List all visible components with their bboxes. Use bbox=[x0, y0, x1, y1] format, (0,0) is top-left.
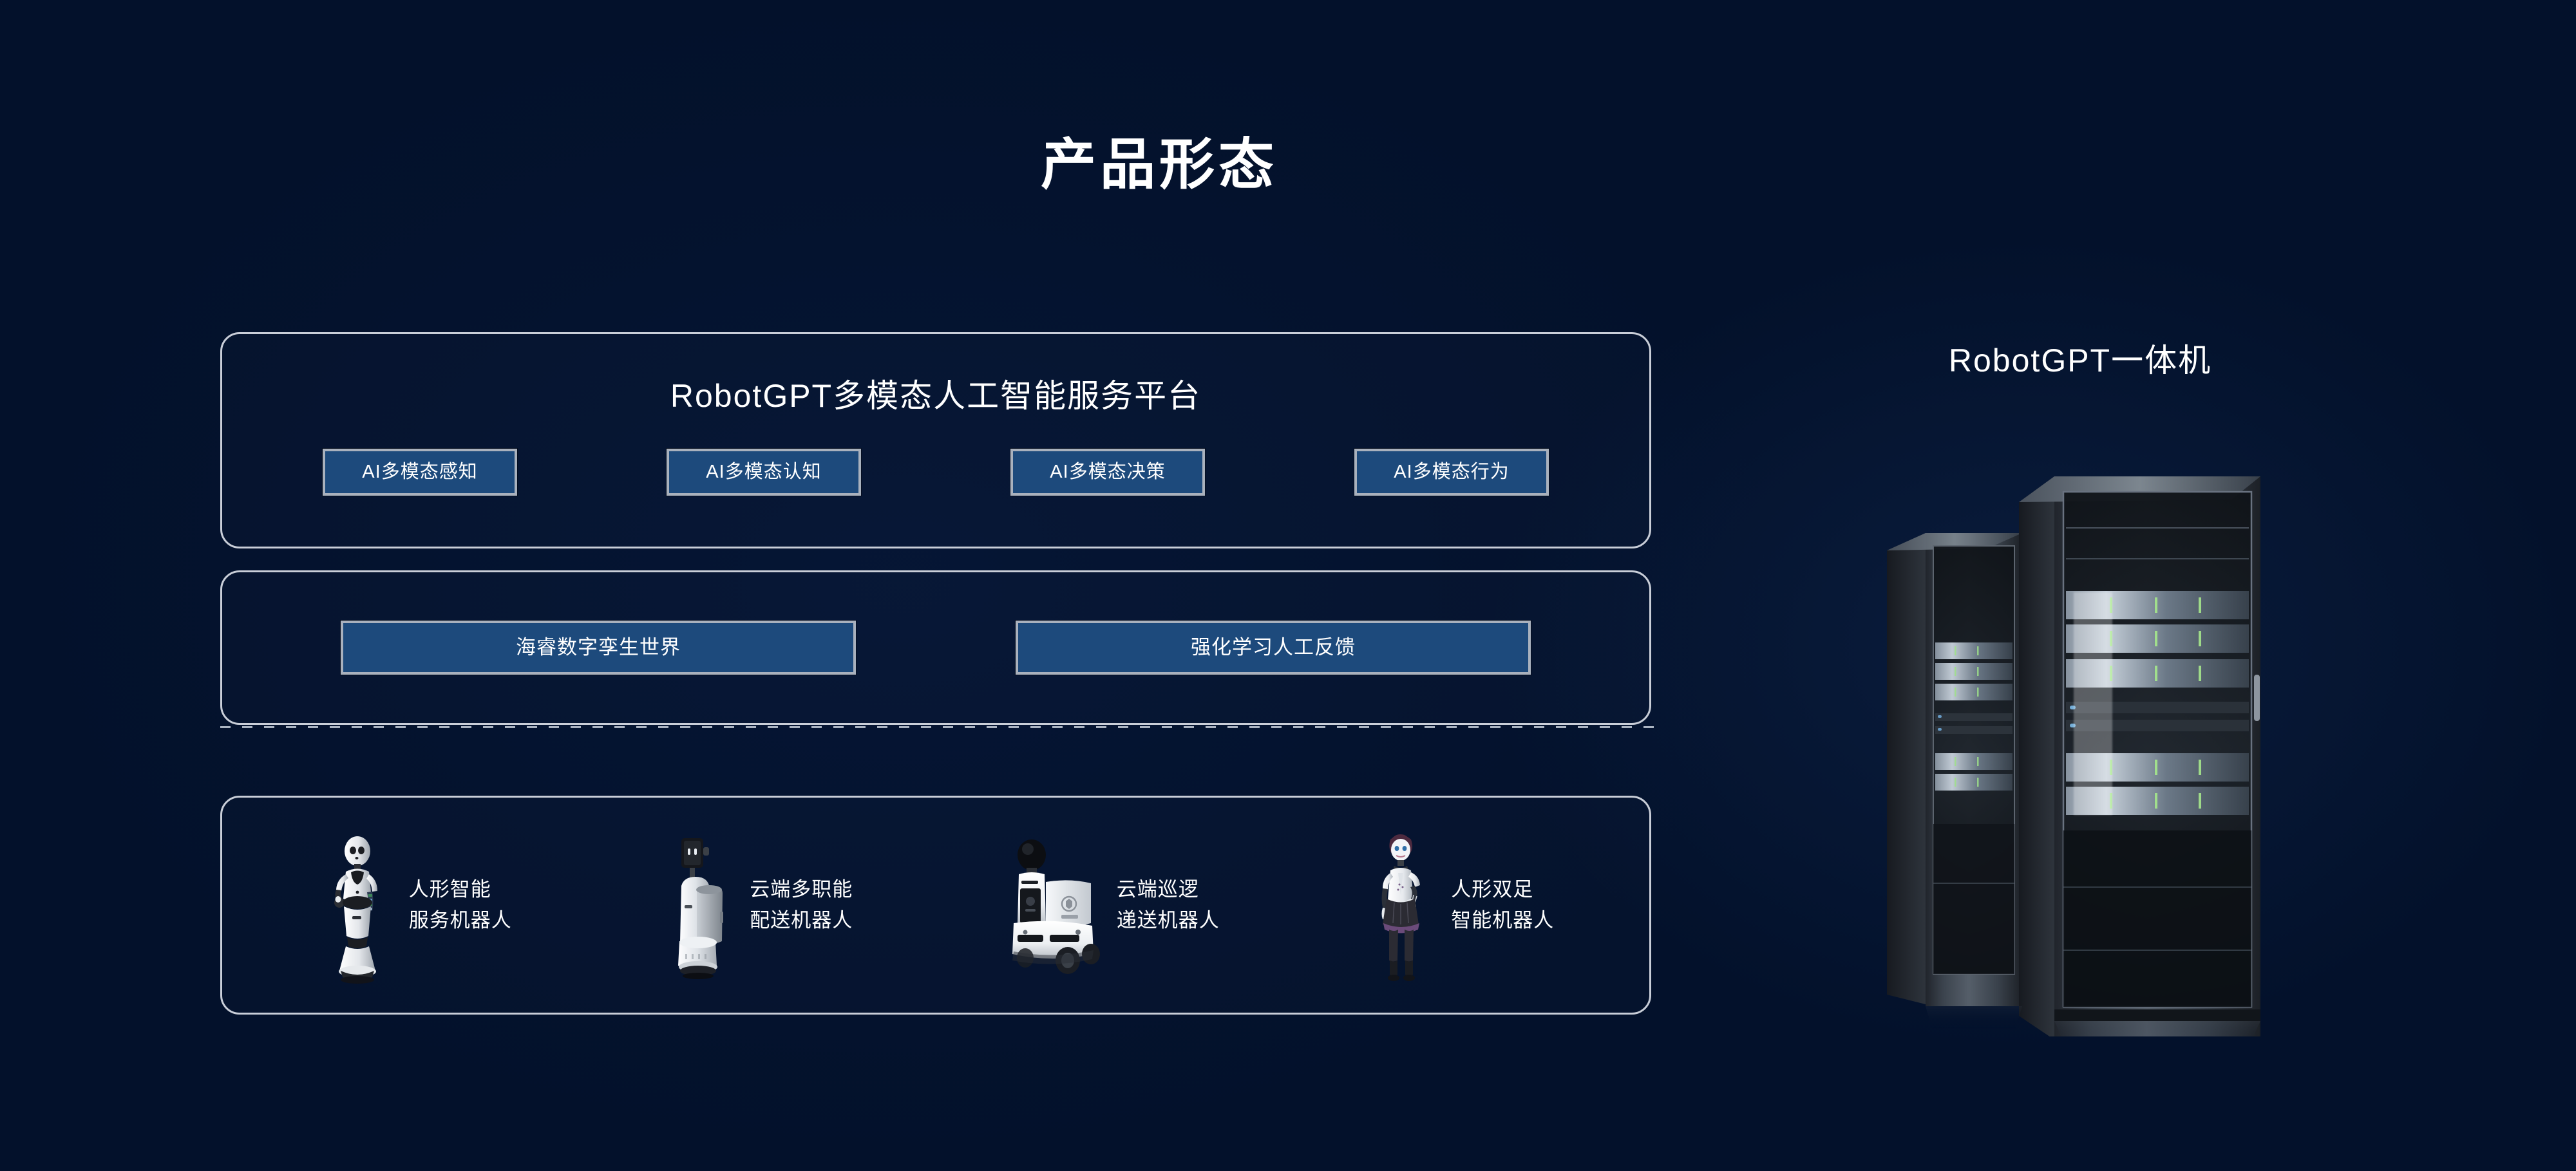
robot-item-patrol-delivery[interactable]: 云端巡逻 递送机器人 bbox=[999, 821, 1220, 989]
robot-panel: 人形智能 服务机器人 bbox=[220, 796, 1651, 1015]
robot-item-biped-humanoid[interactable]: 人形双足 智能机器人 bbox=[1366, 821, 1554, 989]
platform-title: RobotGPT多模态人工智能服务平台 bbox=[222, 370, 1649, 417]
capability-chip-row: AI多模态感知 AI多模态认知 AI多模态决策 AI多模态行为 bbox=[222, 449, 1649, 496]
robot-label-biped-humanoid: 人形双足 智能机器人 bbox=[1451, 874, 1554, 936]
robot-label-line2: 配送机器人 bbox=[750, 905, 853, 936]
robot-row: 人形智能 服务机器人 bbox=[222, 798, 1649, 1013]
engine-chip-row: 海睿数字孪生世界 强化学习人工反馈 bbox=[222, 572, 1649, 723]
engine-chip-rlhf[interactable]: 强化学习人工反馈 bbox=[1016, 621, 1531, 675]
engine-panel: 海睿数字孪生世界 强化学习人工反馈 bbox=[220, 570, 1651, 725]
robot-item-cloud-delivery[interactable]: 云端多职能 配送机器人 bbox=[658, 821, 853, 989]
page-title: 产品形态 bbox=[0, 119, 2576, 200]
appliance-title: RobotGPT一体机 bbox=[1868, 335, 2293, 381]
robot-label-line2: 递送机器人 bbox=[1117, 905, 1220, 936]
robot-label-line2: 智能机器人 bbox=[1451, 905, 1554, 936]
capability-chip-cognition[interactable]: AI多模态认知 bbox=[667, 449, 861, 496]
robot-label-line1: 人形智能 bbox=[409, 874, 512, 905]
biped-humanoid-robot-icon bbox=[1366, 821, 1437, 989]
robot-label-line1: 人形双足 bbox=[1451, 874, 1554, 905]
section-divider bbox=[220, 726, 1655, 728]
humanoid-service-robot-icon bbox=[317, 821, 395, 989]
engine-chip-digital-twin[interactable]: 海睿数字孪生世界 bbox=[341, 621, 856, 675]
page-title-text: 产品形态 bbox=[1041, 119, 1278, 200]
robot-label-line1: 云端多职能 bbox=[750, 874, 853, 905]
robot-label-cloud-delivery: 云端多职能 配送机器人 bbox=[750, 874, 853, 936]
platform-panel: RobotGPT多模态人工智能服务平台 AI多模态感知 AI多模态认知 AI多模… bbox=[220, 332, 1651, 548]
robot-label-humanoid-service: 人形智能 服务机器人 bbox=[409, 874, 512, 936]
server-rack-icon bbox=[1861, 406, 2312, 1036]
left-column: RobotGPT多模态人工智能服务平台 AI多模态感知 AI多模态认知 AI多模… bbox=[220, 332, 1651, 1015]
patrol-delivery-robot-icon bbox=[999, 821, 1103, 989]
robot-label-line1: 云端巡逻 bbox=[1117, 874, 1220, 905]
robot-item-humanoid-service[interactable]: 人形智能 服务机器人 bbox=[317, 821, 512, 989]
robot-label-patrol-delivery: 云端巡逻 递送机器人 bbox=[1117, 874, 1220, 936]
capability-chip-behavior[interactable]: AI多模态行为 bbox=[1354, 449, 1549, 496]
cloud-delivery-robot-icon bbox=[658, 821, 735, 989]
robot-label-line2: 服务机器人 bbox=[409, 905, 512, 936]
capability-chip-perception[interactable]: AI多模态感知 bbox=[323, 449, 517, 496]
server-rack-primary bbox=[2019, 476, 2260, 1036]
server-rack-secondary bbox=[1887, 533, 2022, 1006]
appliance-column: RobotGPT一体机 bbox=[1868, 335, 2331, 381]
capability-chip-decision[interactable]: AI多模态决策 bbox=[1010, 449, 1205, 496]
